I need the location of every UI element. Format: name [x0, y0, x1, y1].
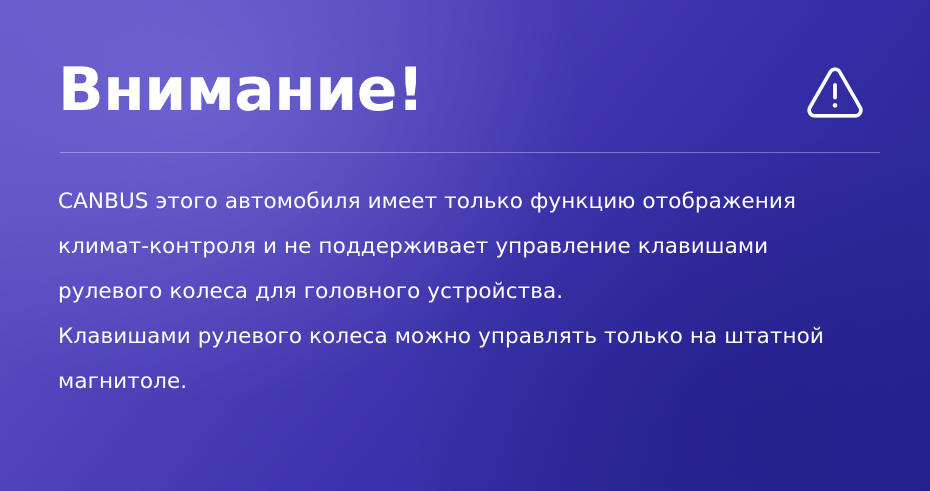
message-line-3: рулевого колеса для головного устройства…	[58, 269, 872, 314]
message-line-2: климат-контроля и не поддерживает управл…	[58, 224, 872, 269]
page-title: Внимание!	[58, 56, 424, 124]
warning-triangle-icon	[804, 64, 866, 120]
divider	[60, 152, 880, 153]
message-line-1: CANBUS этого автомобиля имеет только фун…	[58, 179, 872, 224]
message-line-4: Клавишами рулевого колеса можно управлят…	[58, 314, 872, 359]
warning-message: CANBUS этого автомобиля имеет только фун…	[58, 179, 872, 404]
banner-content: Внимание! CANBUS этого автомобиля имеет …	[0, 0, 930, 404]
message-line-5: магнитоле.	[58, 359, 872, 404]
warning-banner: Внимание! CANBUS этого автомобиля имеет …	[0, 0, 930, 491]
banner-header: Внимание!	[58, 0, 872, 124]
